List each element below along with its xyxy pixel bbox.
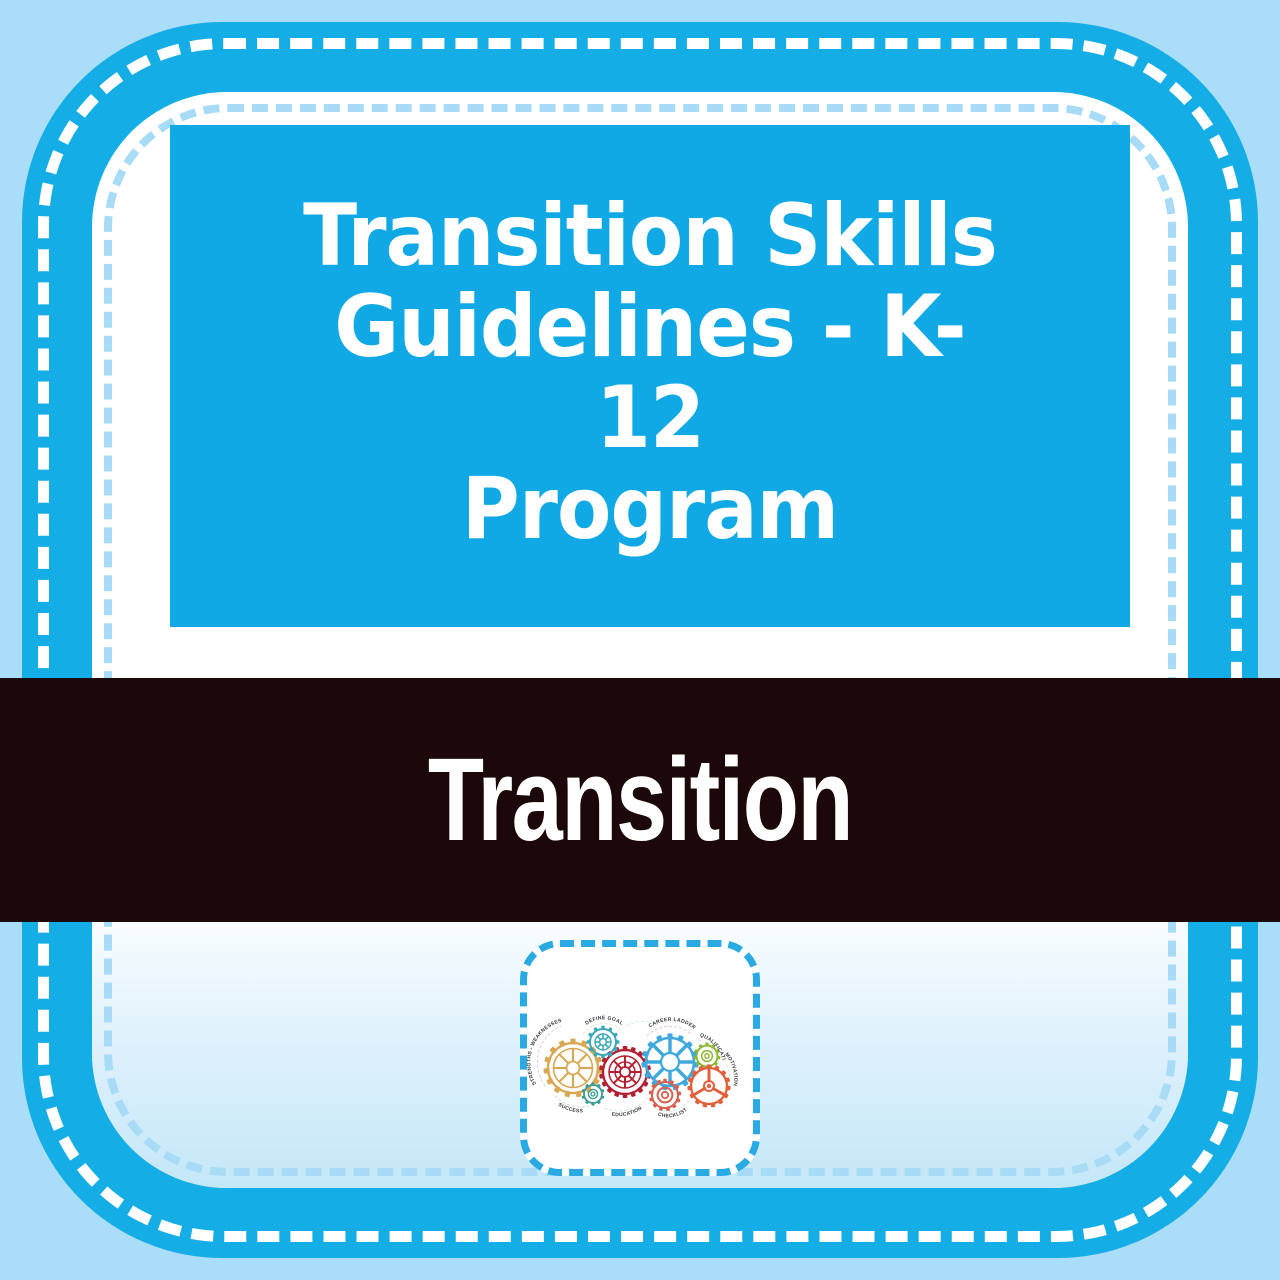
gear-motivation (687, 1064, 730, 1107)
gear-strengths-weaknesses (543, 1039, 602, 1098)
gear-label-education: EDUCATION (611, 1105, 643, 1118)
gear-label-success: SUCCESS (557, 1102, 584, 1115)
banner-label: Transition (428, 741, 852, 859)
page-title: Transition Skills Guidelines - K-12 Prog… (282, 191, 1018, 556)
gears-illustration: STRENGTHS - WEAKNESSES SUCCESS DEFINE GO… (527, 1000, 753, 1120)
gear-success (582, 1082, 605, 1105)
gear-label-define-goals: DEFINE GOALS (527, 1000, 624, 1027)
gear-label-career-ladder: CAREER LADDER (648, 1017, 697, 1031)
title-card: Transition Skills Guidelines - K-12 Prog… (170, 125, 1130, 627)
poster-canvas: Transition Skills Guidelines - K-12 Prog… (0, 0, 1280, 1280)
category-banner: Transition (0, 678, 1280, 922)
thumbnail-card[interactable]: STRENGTHS - WEAKNESSES SUCCESS DEFINE GO… (520, 940, 760, 1176)
